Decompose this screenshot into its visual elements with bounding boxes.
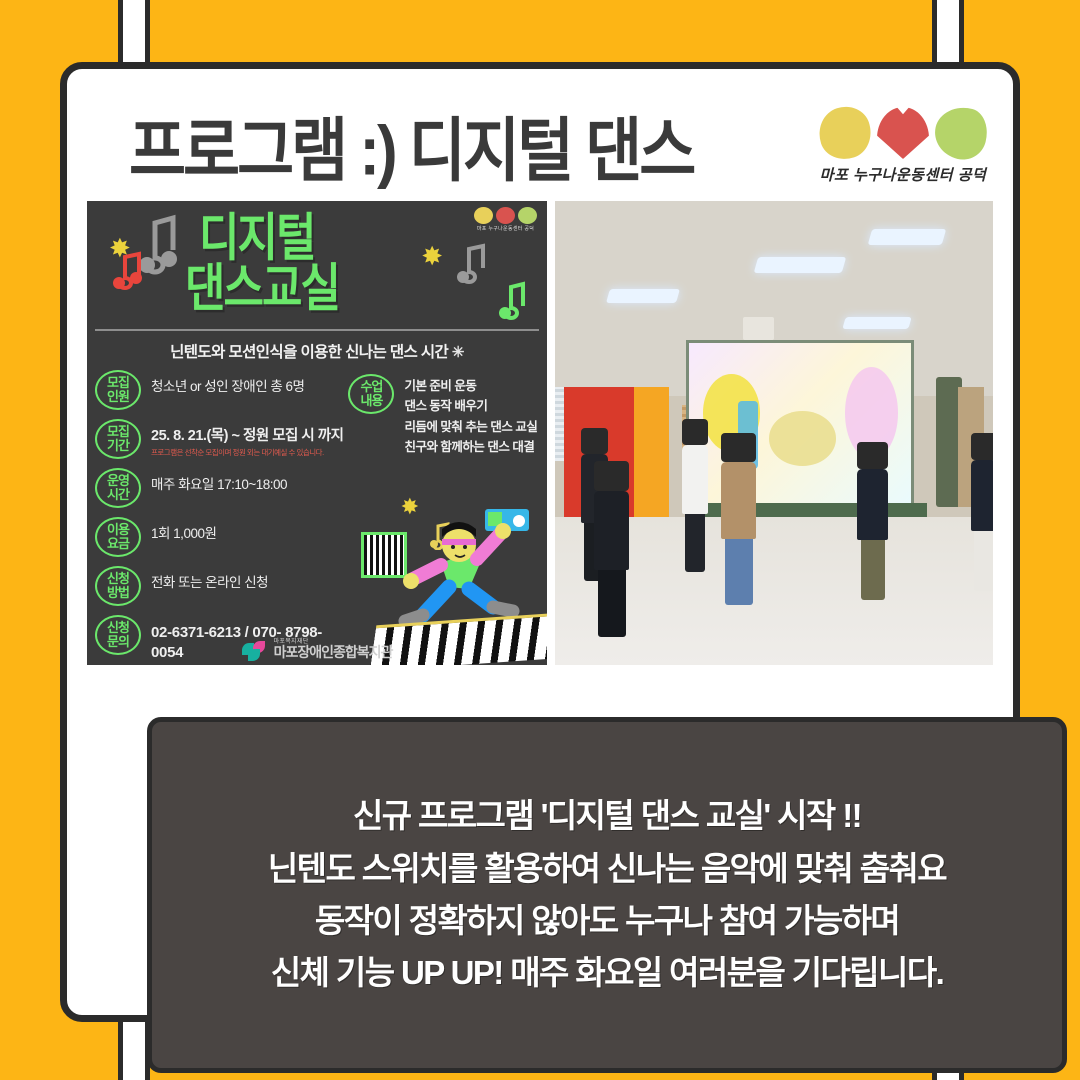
description-panel: 신규 프로그램 '디지털 댄스 교실' 시작 !! 닌텐도 스위치를 활용하여 … [147,717,1067,1073]
poster-footer-logo: 마포복지재단 마포장애인종합복지관 [87,639,547,659]
person-body [721,462,756,539]
description-line-1: 신규 프로그램 '디지털 댄스 교실' 시작 !! [353,798,861,834]
screen-game-blob-2 [769,411,836,466]
poster-body: 모집 인원 청소년 or 성인 장애인 총 6명 모집 기간 25. 8. 21… [87,370,547,665]
info-row-fee: 이용 요금 1회 1,000원 [95,517,348,557]
person-6 [971,433,993,591]
person-head [721,433,756,462]
poster-mini-brand-name: 마포 누구나운동센터 공덕 [474,225,537,232]
info-row-period: 모집 기간 25. 8. 21.(목) ~ 정원 모집 시 까지 프로그램은 선… [95,419,348,459]
welfare-logo-icon [242,641,268,657]
heart-red-icon [877,107,929,159]
person-head [857,442,888,469]
person-4 [721,433,756,605]
person-head [581,428,607,454]
info-label-capacity: 모집 인원 [95,370,141,410]
person-head [971,433,993,460]
info-label-period: 모집 기간 [95,419,141,459]
music-note-green-icon [497,279,529,321]
ceiling-light-icon [606,289,680,303]
person-2 [594,461,629,637]
info-value-fee: 1회 1,000원 [151,517,216,543]
person-5 [857,442,888,600]
person-head [682,419,708,445]
info-value-content: 기본 준비 운동 댄스 동작 배우기 리듬에 맞춰 추는 댄스 교실 친구와 함… [404,374,537,457]
info-label-fee: 이용 요금 [95,517,141,557]
person-head [594,461,629,491]
main-card: 프로그램 :) 디지털 댄스 마포 누구나운동센터 공덕 ✸ [60,62,1020,1022]
person-legs [598,570,625,637]
info-value-period: 25. 8. 21.(목) ~ 정원 모집 시 까지 프로그램은 선착순 모집이… [151,419,343,458]
sparkle-icon-3: ✳ [452,344,464,361]
poster-mini-shapes [474,207,537,224]
poster-info-column: 모집 인원 청소년 or 성인 장애인 총 6명 모집 기간 25. 8. 21… [95,370,348,665]
person-legs [685,514,705,572]
description-line-4: 신체 기능 UP UP! 매주 화요일 여러분을 기다립니다. [271,955,943,991]
leaf-yellow-icon [812,100,878,166]
mini-heart-red-icon [496,207,515,224]
person-body [971,460,993,531]
person-body [594,491,629,570]
person-legs [974,531,993,591]
info-label-content: 수업 내용 [348,374,394,414]
poster-mini-brand: 마포 누구나운동센터 공덕 [474,207,537,232]
info-value-capacity: 청소년 or 성인 장애인 총 6명 [151,370,304,396]
person-body [857,469,888,540]
brand-logo: 마포 누구나운동센터 공덕 [819,105,987,187]
mini-leaf-green-icon [518,207,537,224]
info-label-schedule: 운영 시간 [95,468,141,508]
dancer-illustration [389,503,539,633]
info-row-apply-method: 신청 방법 전화 또는 온라인 신청 [95,566,348,606]
info-value-apply-method: 전화 또는 온라인 신청 [151,566,268,592]
sparkle-icon-2: ✸ [421,243,443,269]
mini-leaf-yellow-icon [474,207,493,224]
brand-name: 마포 누구나운동센터 공덕 [819,164,987,185]
description-line-2: 닌텐도 스위치를 활용하여 신나는 음악에 맞춰 춤춰요 [268,851,946,887]
header: 프로그램 :) 디지털 댄스 마포 누구나운동센터 공덕 [87,87,993,187]
info-value-schedule: 매주 화요일 17:10~18:00 [151,468,287,494]
brand-shapes [819,105,987,161]
program-poster: ✸ 디지털 댄스교실 ✸ [87,201,547,665]
projector-icon [743,317,774,340]
class-photo [555,201,993,665]
description-line-3: 동작이 정확하지 않아도 누구나 참여 가능하며 [315,903,899,939]
page-title: 프로그램 :) 디지털 댄스 [129,118,693,187]
poster-subtitle: 닌텐도와 모션인식을 이용한 신나는 댄스 시간 ✳ [87,331,547,370]
music-note-gray-icon-2 [455,241,489,285]
music-note-red-icon [111,249,145,291]
ceiling-light-icon-3 [868,229,947,245]
poster-footer-text: 마포복지재단 마포장애인종합복지관 [274,639,393,659]
poster-title: 디지털 댄스교실 [199,213,339,315]
info-row-schedule: 운영 시간 매주 화요일 17:10~18:00 [95,468,348,508]
person-3 [682,419,708,572]
info-row-capacity: 모집 인원 청소년 or 성인 장애인 총 6명 [95,370,348,410]
poster-footer-big: 마포장애인종합복지관 [274,645,393,659]
ceiling-light-icon-2 [754,257,846,273]
media-row: ✸ 디지털 댄스교실 ✸ [87,201,993,665]
ceiling-light-icon-4 [842,317,911,329]
info-row-content: 수업 내용 기본 준비 운동 댄스 동작 배우기 리듬에 맞춰 추는 댄스 교실… [348,374,539,457]
poster-header: ✸ 디지털 댄스교실 ✸ [87,201,547,329]
leaf-green-icon [929,101,992,164]
person-body [682,445,708,514]
person-legs [861,540,885,600]
info-label-apply-method: 신청 방법 [95,566,141,606]
person-legs [725,539,752,604]
